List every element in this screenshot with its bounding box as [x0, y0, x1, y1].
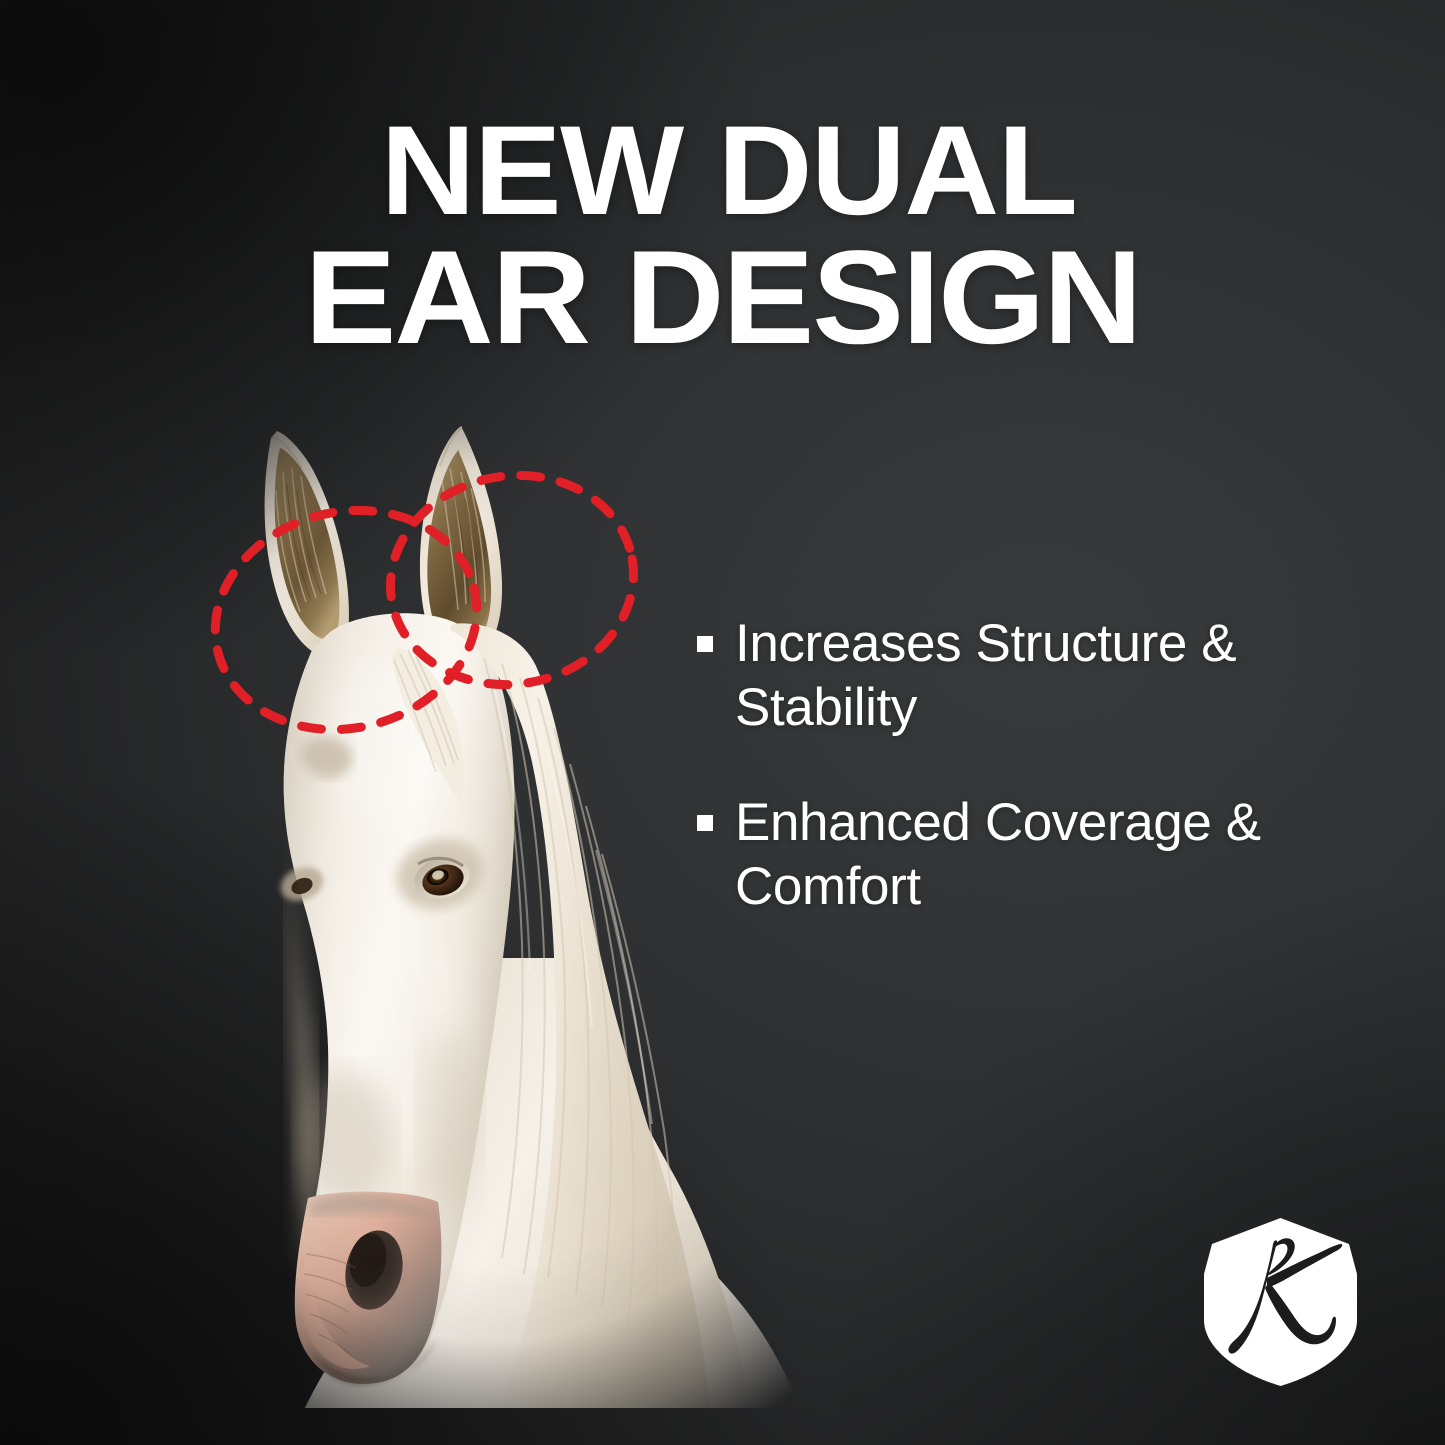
list-item: Enhanced Coverage & Comfort — [697, 791, 1397, 918]
square-bullet-icon — [697, 636, 713, 652]
horse-ear-left — [265, 431, 349, 658]
list-item: Increases Structure & Stability — [697, 612, 1397, 739]
promo-poster: NEW DUAL EAR DESIGN — [0, 0, 1445, 1445]
bullet-text: Enhanced Coverage & Comfort — [735, 791, 1385, 918]
feature-bullet-list: Increases Structure & Stability Enhanced… — [697, 612, 1397, 918]
brand-logo — [1199, 1216, 1362, 1388]
bullet-text: Increases Structure & Stability — [735, 612, 1385, 739]
square-bullet-icon — [697, 815, 713, 831]
